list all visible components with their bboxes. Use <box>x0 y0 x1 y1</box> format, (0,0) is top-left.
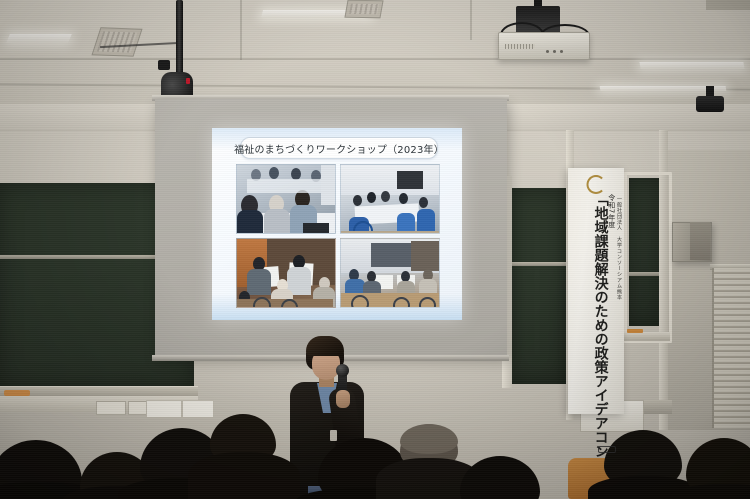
presentation-room-photo: 福祉のまちづくりワークショップ（2023年） <box>0 0 750 499</box>
audience-glasses <box>598 446 616 453</box>
window-blinds <box>712 268 750 428</box>
tray-box-left <box>96 401 126 415</box>
ceiling-device-right <box>696 96 724 112</box>
banner-text-columns: 一般社団法人 大学コンソーシアム熊本 令和7年度 「地域課題解決のための政策アイ… <box>568 192 624 410</box>
presenter-hair-front <box>306 336 344 356</box>
slide-photo-grid <box>236 164 440 308</box>
ceiling-light-right <box>639 62 744 69</box>
wall-speaker-face <box>690 222 710 260</box>
chalk-eraser <box>4 390 30 396</box>
projection-screen: 福祉のまちづくりワークショップ（2023年） <box>155 99 507 357</box>
camera-bracket <box>158 60 170 70</box>
camera-record-indicator <box>186 78 190 84</box>
slide-photo-1 <box>236 164 336 234</box>
banner-organization: 一般社団法人 大学コンソーシアム熊本 <box>616 192 621 410</box>
chalkboard-rail-center-right <box>508 262 566 266</box>
audience-head-6-hair <box>400 424 458 454</box>
audience-body-4 <box>188 452 300 499</box>
window-header <box>706 0 750 10</box>
projector-led-3 <box>560 50 563 53</box>
ceiling-vent-right <box>344 0 383 18</box>
slide-title-box: 福祉のまちづくりワークショップ（2023年） <box>240 137 438 159</box>
presenter-name-badge <box>330 430 337 441</box>
camera-mount-pole <box>176 0 183 78</box>
chalk-eraser-right <box>627 329 643 333</box>
projector-led-1 <box>546 50 549 53</box>
chalkboard-center-right <box>508 188 566 384</box>
microphone-head <box>336 364 349 377</box>
wall-sign-left <box>146 400 182 418</box>
banner-year: 令和7年度 <box>608 192 615 410</box>
projected-slide: 福祉のまちづくりワークショップ（2023年） <box>212 128 462 320</box>
banner-title: 「地域課題解決のための政策アイデアコンテスト」 <box>593 192 607 410</box>
slide-photo-2 <box>340 164 440 234</box>
chalkboard-rail-right <box>629 272 659 276</box>
presenter-hand <box>336 390 350 408</box>
projector-led-2 <box>553 50 556 53</box>
chalkboard-right <box>629 178 659 326</box>
ceiling-vent <box>91 27 142 56</box>
wall-sign-right <box>182 400 214 418</box>
slide-title: 福祉のまちづくりワークショップ（2023年） <box>234 141 444 156</box>
slide-photo-3 <box>236 238 336 308</box>
chalk-tray-right <box>622 332 670 341</box>
ceiling-light-left <box>6 34 72 43</box>
projector-vent <box>505 44 535 49</box>
slide-photo-4 <box>340 238 440 308</box>
event-banner: 一般社団法人 大学コンソーシアム熊本 令和7年度 「地域課題解決のための政策アイ… <box>568 168 624 414</box>
